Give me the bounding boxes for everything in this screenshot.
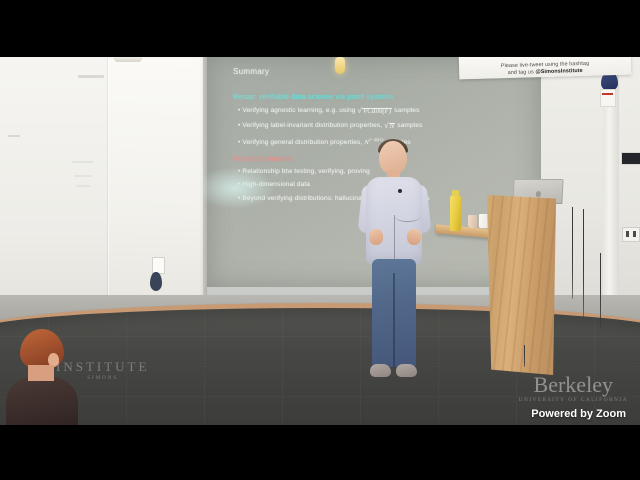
letterbox-top <box>0 0 640 57</box>
apple-logo-icon <box>535 191 540 197</box>
device-label-plate <box>600 89 616 107</box>
cable <box>572 207 573 299</box>
slide-bullet: • Verifying label-invariant distribution… <box>238 122 533 131</box>
presenter-hand-right <box>407 229 421 245</box>
video-feed: Summary Recap: verifiable data science v… <box>0 57 640 425</box>
wall-note-4 <box>74 175 92 177</box>
bullet-text: Relationship btw testing, verifying, pro… <box>242 168 370 175</box>
wall-hook <box>150 272 162 291</box>
power-outlet <box>622 227 640 242</box>
letterbox-bottom <box>0 425 640 480</box>
twitter-handle: @SimonsInstitute <box>535 68 582 75</box>
ceiling-light <box>114 57 142 62</box>
bullet-suffix: samples <box>397 122 422 129</box>
presenter-hand-left <box>369 229 383 245</box>
presenter-jeans <box>372 259 416 367</box>
cable <box>524 345 525 367</box>
presenter-shoe-right <box>396 364 417 377</box>
math-expression: VCdim(F) <box>362 108 392 116</box>
pendant-lamp-icon <box>335 57 345 74</box>
wall-note-5 <box>76 185 90 187</box>
water-bottle <box>450 195 461 231</box>
bullet-text: High-dimensional data <box>242 181 310 188</box>
wall-note-1 <box>78 75 104 78</box>
bullet-text: Verifying agnostic learning, e.g. using <box>242 107 355 114</box>
coffee-cup <box>468 215 477 228</box>
presenter-collar <box>395 212 420 222</box>
left-wall <box>0 57 122 327</box>
presenter-shoe-left <box>370 364 391 377</box>
audience-member <box>6 329 78 425</box>
cable <box>600 253 601 329</box>
thermostat-panel <box>621 152 640 165</box>
video-conference-frame: Summary Recap: verifiable data science v… <box>0 0 640 480</box>
slide-bullet: • Verifying agnostic learning, e.g. usin… <box>238 107 533 116</box>
bullet-suffix: samples <box>394 107 419 114</box>
lapel-microphone-icon <box>398 189 402 193</box>
wall-note-3 <box>72 161 94 163</box>
slide-section-heading-recap: Recap: verifiable data science via proof… <box>233 92 533 101</box>
math-expression: N <box>389 123 396 131</box>
wall-note-2 <box>8 135 20 137</box>
bullet-text: Verifying label-invariant distribution p… <box>242 122 382 129</box>
audience-shoulders <box>6 377 78 425</box>
bullet-text: Verifying general distribution propertie… <box>242 139 362 146</box>
audience-neck <box>28 365 54 381</box>
presenter-shirt <box>366 177 422 265</box>
podium <box>484 195 556 375</box>
whiteboard-panel <box>0 57 108 309</box>
presenter <box>352 141 436 397</box>
